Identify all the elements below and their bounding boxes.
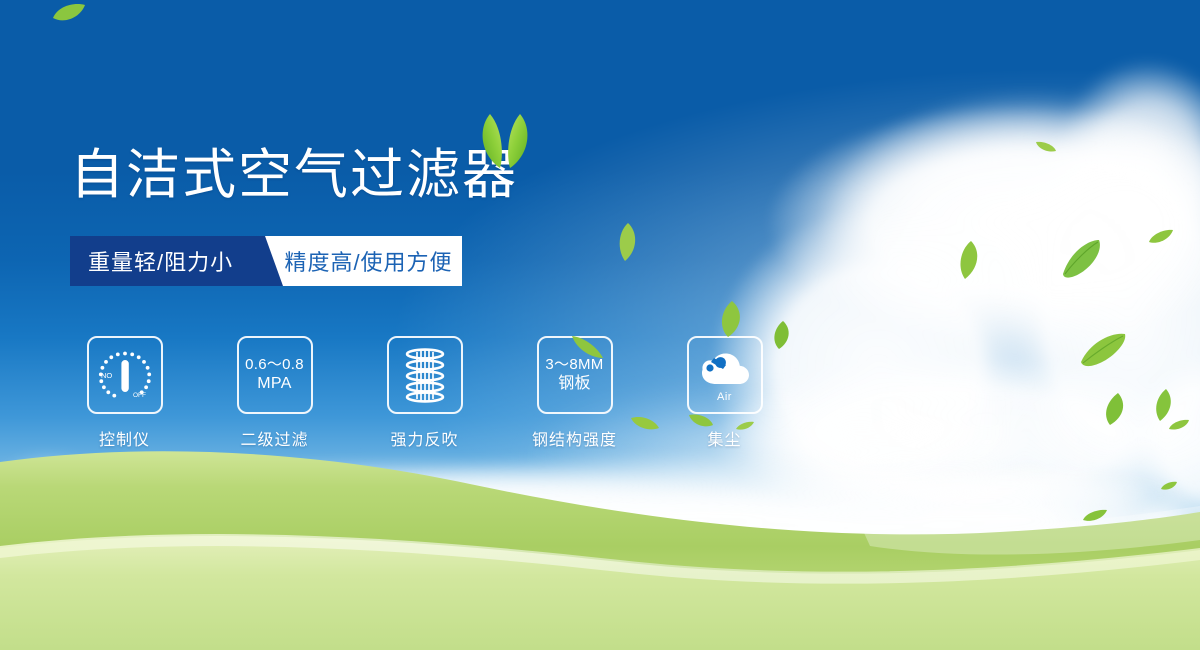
feature-item-pulse-jet[interactable]: 强力反吹 <box>372 336 477 450</box>
feature-label: 二级过滤 <box>240 426 308 450</box>
feature-icon-box: 3〜8MM 钢板 <box>537 336 613 414</box>
grass-field <box>0 420 1200 650</box>
sprout-leaves-icon <box>470 110 540 170</box>
feature-item-dust-collection[interactable]: Air 集尘 <box>672 336 777 450</box>
pressure-text-icon: 0.6〜0.8 MPA <box>245 356 304 395</box>
filter-cartridge-icon <box>397 346 453 404</box>
air-cloud-icon <box>696 348 754 390</box>
feature-item-controller[interactable]: NO OFF 控制仪 <box>72 336 177 450</box>
air-caption: Air <box>717 391 732 403</box>
dial-label-off: OFF <box>133 392 146 399</box>
subtitle-badge: 重量轻/阻力小 精度高/使用方便 <box>70 236 462 286</box>
feature-icon-box: NO OFF <box>87 336 163 414</box>
feature-item-two-stage-filter[interactable]: 0.6〜0.8 MPA 二级过滤 <box>222 336 327 450</box>
steel-plate-text-icon: 3〜8MM 钢板 <box>545 356 603 395</box>
product-banner: 自洁式空气过滤器 重量轻/阻力小 精度高/使用方便 <box>0 0 1200 650</box>
feature-list: NO OFF 控制仪 0.6〜0.8 MPA 二级过滤 <box>72 336 777 450</box>
steel-line-1: 3〜8MM <box>545 356 603 375</box>
pressure-line-1: 0.6〜0.8 <box>245 356 304 375</box>
badge-left-segment: 重量轻/阻力小 <box>70 236 265 286</box>
feature-label: 集尘 <box>707 426 741 450</box>
page-title: 自洁式空气过滤器 <box>70 148 518 202</box>
feature-item-steel-strength[interactable]: 3〜8MM 钢板 钢结构强度 <box>522 336 627 450</box>
feature-label: 强力反吹 <box>390 426 458 450</box>
badge-right-segment: 精度高/使用方便 <box>265 236 462 286</box>
steel-line-2: 钢板 <box>545 374 603 394</box>
feature-icon-box: 0.6〜0.8 MPA <box>237 336 313 414</box>
badge-left-text: 重量轻/阻力小 <box>88 245 233 277</box>
dial-label-no: NO <box>101 371 112 380</box>
feature-label: 控制仪 <box>99 426 150 450</box>
badge-right-text: 精度高/使用方便 <box>284 245 452 277</box>
pressure-line-2: MPA <box>245 374 304 394</box>
feature-label: 钢结构强度 <box>532 426 617 450</box>
feature-icon-box <box>387 336 463 414</box>
feature-icon-box: Air <box>687 336 763 414</box>
gauge-dial-icon: NO OFF <box>94 344 156 406</box>
